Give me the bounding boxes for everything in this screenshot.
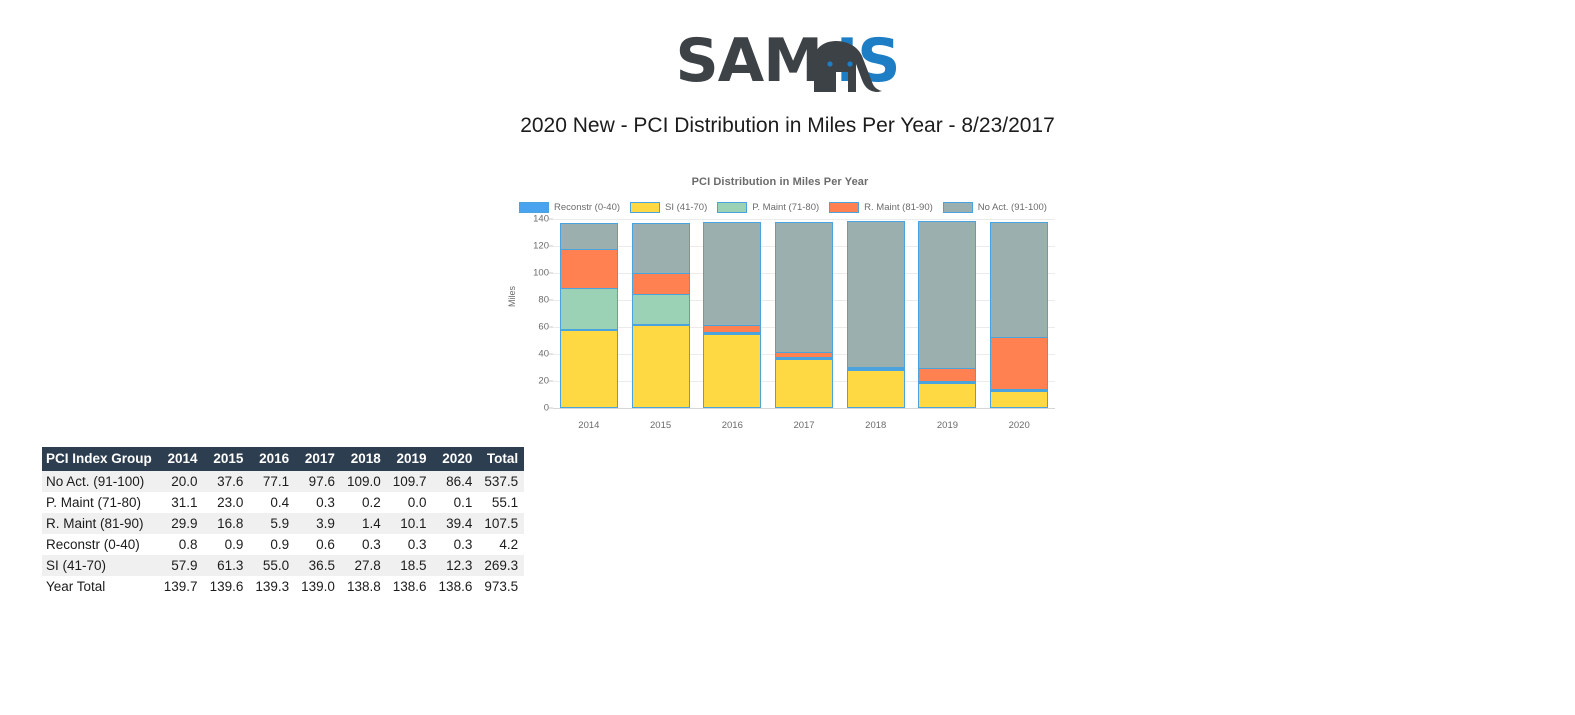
table-cell: 139.0 bbox=[295, 576, 341, 597]
table-cell: 27.8 bbox=[341, 555, 387, 576]
table-column-header[interactable]: 2018 bbox=[341, 447, 387, 471]
table-cell: 139.3 bbox=[249, 576, 295, 597]
bar-segment[interactable] bbox=[632, 273, 690, 296]
bar-segment[interactable] bbox=[632, 223, 690, 274]
table-cell: 139.7 bbox=[158, 576, 204, 597]
table-cell: 0.2 bbox=[341, 492, 387, 513]
legend-item[interactable]: Reconstr (0-40) bbox=[519, 202, 620, 213]
table-cell: 29.9 bbox=[158, 513, 204, 534]
table-column-header[interactable]: Total bbox=[478, 447, 524, 471]
stacked-bar[interactable] bbox=[775, 223, 833, 408]
table-row-label: Reconstr (0-40) bbox=[42, 534, 158, 555]
y-axis-tick-label: 120 bbox=[533, 241, 549, 252]
table-cell: 16.8 bbox=[204, 513, 250, 534]
table-row[interactable]: P. Maint (71-80)31.123.00.40.30.20.00.15… bbox=[42, 492, 524, 513]
table-cell: 537.5 bbox=[478, 471, 524, 492]
logo-text-is: IS bbox=[836, 26, 900, 96]
table-cell: 57.9 bbox=[158, 555, 204, 576]
y-axis-tick-label: 100 bbox=[533, 268, 549, 279]
table-column-header[interactable]: 2019 bbox=[387, 447, 433, 471]
bar-segment[interactable] bbox=[632, 325, 690, 408]
table-row-label: SI (41-70) bbox=[42, 555, 158, 576]
elephant-eye-left bbox=[827, 61, 832, 66]
bar-slot bbox=[840, 219, 912, 408]
y-axis-tick-label: 80 bbox=[538, 295, 549, 306]
table-cell: 0.9 bbox=[249, 534, 295, 555]
table-header: PCI Index Group2014201520162017201820192… bbox=[42, 447, 524, 471]
chart-title: PCI Distribution in Miles Per Year bbox=[505, 172, 1055, 188]
table-row-label: No Act. (91-100) bbox=[42, 471, 158, 492]
table-column-header[interactable]: 2017 bbox=[295, 447, 341, 471]
bar-segment[interactable] bbox=[560, 249, 618, 289]
pci-data-table: PCI Index Group2014201520162017201820192… bbox=[42, 447, 524, 597]
table-column-header[interactable]: 2015 bbox=[204, 447, 250, 471]
table-cell: 77.1 bbox=[249, 471, 295, 492]
table-row-label: P. Maint (71-80) bbox=[42, 492, 158, 513]
stacked-bar[interactable] bbox=[847, 222, 905, 408]
table-cell: 107.5 bbox=[478, 513, 524, 534]
table-cell: 5.9 bbox=[249, 513, 295, 534]
table-cell: 31.1 bbox=[158, 492, 204, 513]
table-cell: 55.0 bbox=[249, 555, 295, 576]
legend-swatch bbox=[829, 202, 859, 213]
table-cell: 55.1 bbox=[478, 492, 524, 513]
y-axis-tick-label: 140 bbox=[533, 214, 549, 225]
table-cell: 10.1 bbox=[387, 513, 433, 534]
bar-segment[interactable] bbox=[775, 359, 833, 408]
table-cell: 23.0 bbox=[204, 492, 250, 513]
logo-text-sam: SAM bbox=[676, 26, 822, 96]
bar-slot bbox=[983, 219, 1055, 408]
legend-swatch bbox=[519, 202, 549, 213]
bar-segment[interactable] bbox=[632, 294, 690, 325]
table-cell: 0.6 bbox=[295, 534, 341, 555]
bar-segment[interactable] bbox=[560, 330, 618, 408]
table-column-header[interactable]: PCI Index Group bbox=[42, 447, 158, 471]
table-cell: 138.8 bbox=[341, 576, 387, 597]
legend-label: P. Maint (71-80) bbox=[752, 202, 819, 213]
table-cell: 269.3 bbox=[478, 555, 524, 576]
bar-segment[interactable] bbox=[918, 383, 976, 408]
legend-label: Reconstr (0-40) bbox=[554, 202, 620, 213]
bar-segment[interactable] bbox=[918, 368, 976, 382]
table-cell: 0.9 bbox=[204, 534, 250, 555]
legend-item[interactable]: No Act. (91-100) bbox=[943, 202, 1047, 213]
table-cell: 138.6 bbox=[387, 576, 433, 597]
legend-item[interactable]: R. Maint (81-90) bbox=[829, 202, 933, 213]
table-cell: 18.5 bbox=[387, 555, 433, 576]
table-cell: 36.5 bbox=[295, 555, 341, 576]
table-cell: 97.6 bbox=[295, 471, 341, 492]
x-axis-tick-label: 2018 bbox=[840, 410, 912, 431]
bar-slot bbox=[912, 219, 984, 408]
bar-slot bbox=[625, 219, 697, 408]
bar-slot bbox=[696, 219, 768, 408]
pci-data-table-container: PCI Index Group2014201520162017201820192… bbox=[42, 447, 504, 597]
x-axis-tick-label: 2020 bbox=[983, 410, 1055, 431]
legend-label: R. Maint (81-90) bbox=[864, 202, 933, 213]
stacked-bar[interactable] bbox=[918, 222, 976, 408]
table-body: No Act. (91-100)20.037.677.197.6109.0109… bbox=[42, 471, 524, 597]
gridline bbox=[553, 408, 1055, 409]
x-axis-tick-label: 2014 bbox=[553, 410, 625, 431]
stacked-bar[interactable] bbox=[560, 224, 618, 409]
bar-segment[interactable] bbox=[560, 223, 618, 250]
y-axis-tick-label: 40 bbox=[538, 349, 549, 360]
table-cell: 0.3 bbox=[387, 534, 433, 555]
legend-label: SI (41-70) bbox=[665, 202, 707, 213]
table-cell: 0.4 bbox=[249, 492, 295, 513]
table-cell: 0.8 bbox=[158, 534, 204, 555]
bar-segment[interactable] bbox=[990, 337, 1048, 390]
chart-legend: Reconstr (0-40)SI (41-70)P. Maint (71-80… bbox=[505, 202, 1055, 213]
table-column-header[interactable]: 2020 bbox=[433, 447, 479, 471]
table-column-header[interactable]: 2016 bbox=[249, 447, 295, 471]
chart-bars bbox=[553, 219, 1055, 408]
legend-label: No Act. (91-100) bbox=[978, 202, 1047, 213]
table-cell: 109.0 bbox=[341, 471, 387, 492]
bar-slot bbox=[553, 219, 625, 408]
table-column-header[interactable]: 2014 bbox=[158, 447, 204, 471]
table-cell: 20.0 bbox=[158, 471, 204, 492]
table-header-row: PCI Index Group2014201520162017201820192… bbox=[42, 447, 524, 471]
brand-logo: SAMIS bbox=[0, 30, 1575, 92]
x-axis-tick-label: 2015 bbox=[625, 410, 697, 431]
table-row[interactable]: SI (41-70)57.961.355.036.527.818.512.326… bbox=[42, 555, 524, 576]
bar-segment[interactable] bbox=[990, 222, 1048, 339]
table-cell: 12.3 bbox=[433, 555, 479, 576]
bar-segment[interactable] bbox=[847, 221, 905, 368]
y-axis-title: Miles bbox=[507, 286, 517, 307]
bar-slot bbox=[768, 219, 840, 408]
table-cell: 39.4 bbox=[433, 513, 479, 534]
table-cell: 139.6 bbox=[204, 576, 250, 597]
bar-segment[interactable] bbox=[560, 288, 618, 330]
stacked-bar[interactable] bbox=[703, 223, 761, 408]
x-axis-tick-label: 2017 bbox=[768, 410, 840, 431]
bar-segment[interactable] bbox=[847, 370, 905, 408]
bar-segment[interactable] bbox=[918, 221, 976, 369]
table-row[interactable]: No Act. (91-100)20.037.677.197.6109.0109… bbox=[42, 471, 524, 492]
table-cell: 86.4 bbox=[433, 471, 479, 492]
table-cell: 0.3 bbox=[433, 534, 479, 555]
table-cell: 138.6 bbox=[433, 576, 479, 597]
bar-segment[interactable] bbox=[775, 222, 833, 354]
table-cell: 3.9 bbox=[295, 513, 341, 534]
table-row[interactable]: R. Maint (81-90)29.916.85.93.91.410.139.… bbox=[42, 513, 524, 534]
x-axis-tick-label: 2019 bbox=[912, 410, 984, 431]
legend-swatch bbox=[717, 202, 747, 213]
page-title: 2020 New - PCI Distribution in Miles Per… bbox=[0, 114, 1575, 138]
table-row[interactable]: Year Total139.7139.6139.3139.0138.8138.6… bbox=[42, 576, 524, 597]
table-cell: 1.4 bbox=[341, 513, 387, 534]
legend-swatch bbox=[630, 202, 660, 213]
y-axis-ticks: 020406080100120140 bbox=[523, 219, 553, 408]
table-cell: 0.3 bbox=[341, 534, 387, 555]
y-axis-tick-label: 20 bbox=[538, 376, 549, 387]
table-cell: 109.7 bbox=[387, 471, 433, 492]
legend-item[interactable]: SI (41-70) bbox=[630, 202, 707, 213]
table-cell: 0.0 bbox=[387, 492, 433, 513]
stacked-bar[interactable] bbox=[632, 224, 690, 408]
x-axis-tick-label: 2016 bbox=[696, 410, 768, 431]
y-axis-tick-label: 60 bbox=[538, 322, 549, 333]
chart-plot-area: Miles 020406080100120140 201420152016201… bbox=[505, 219, 1055, 434]
pci-distribution-chart: PCI Distribution in Miles Per Year Recon… bbox=[505, 172, 1055, 434]
legend-item[interactable]: P. Maint (71-80) bbox=[717, 202, 819, 213]
table-row-label: R. Maint (81-90) bbox=[42, 513, 158, 534]
table-cell: 0.3 bbox=[295, 492, 341, 513]
x-axis-labels: 2014201520162017201820192020 bbox=[553, 410, 1055, 431]
table-cell: 973.5 bbox=[478, 576, 524, 597]
table-cell: 37.6 bbox=[204, 471, 250, 492]
table-row-label: Year Total bbox=[42, 576, 158, 597]
stacked-bar[interactable] bbox=[990, 223, 1048, 408]
bar-segment[interactable] bbox=[990, 391, 1048, 408]
table-cell: 4.2 bbox=[478, 534, 524, 555]
table-cell: 61.3 bbox=[204, 555, 250, 576]
bar-segment[interactable] bbox=[703, 222, 761, 326]
table-cell: 0.1 bbox=[433, 492, 479, 513]
bar-segment[interactable] bbox=[703, 334, 761, 408]
legend-swatch bbox=[943, 202, 973, 213]
logo-mark: SAMIS bbox=[676, 30, 900, 92]
table-row[interactable]: Reconstr (0-40)0.80.90.90.60.30.30.34.2 bbox=[42, 534, 524, 555]
